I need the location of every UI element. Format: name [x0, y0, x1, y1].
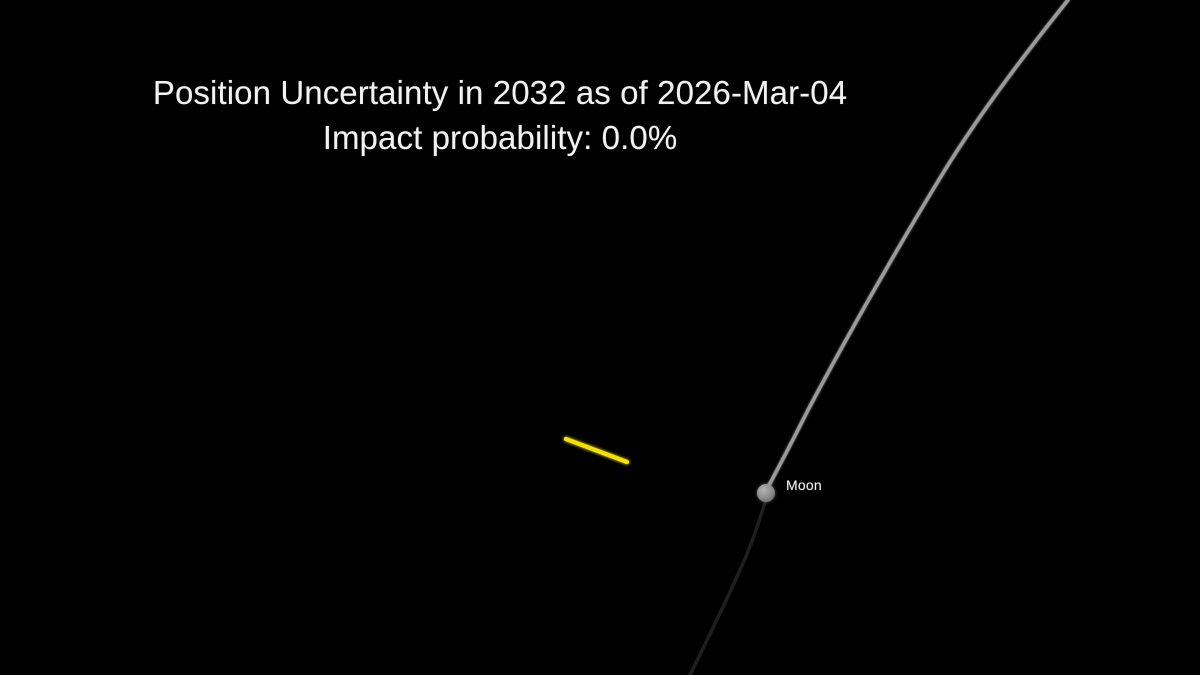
orbit-plot-canvas	[0, 0, 1200, 675]
lunar-orbit-far-side-path	[690, 500, 766, 675]
moon-marker	[757, 484, 775, 502]
asteroid-uncertainty-line	[566, 439, 627, 462]
moon-label: Moon	[786, 477, 822, 493]
position-uncertainty-visualization: Moon Position Uncertainty in 2032 as of …	[0, 0, 1200, 675]
lunar-orbit-near-side-path	[766, 0, 1068, 491]
